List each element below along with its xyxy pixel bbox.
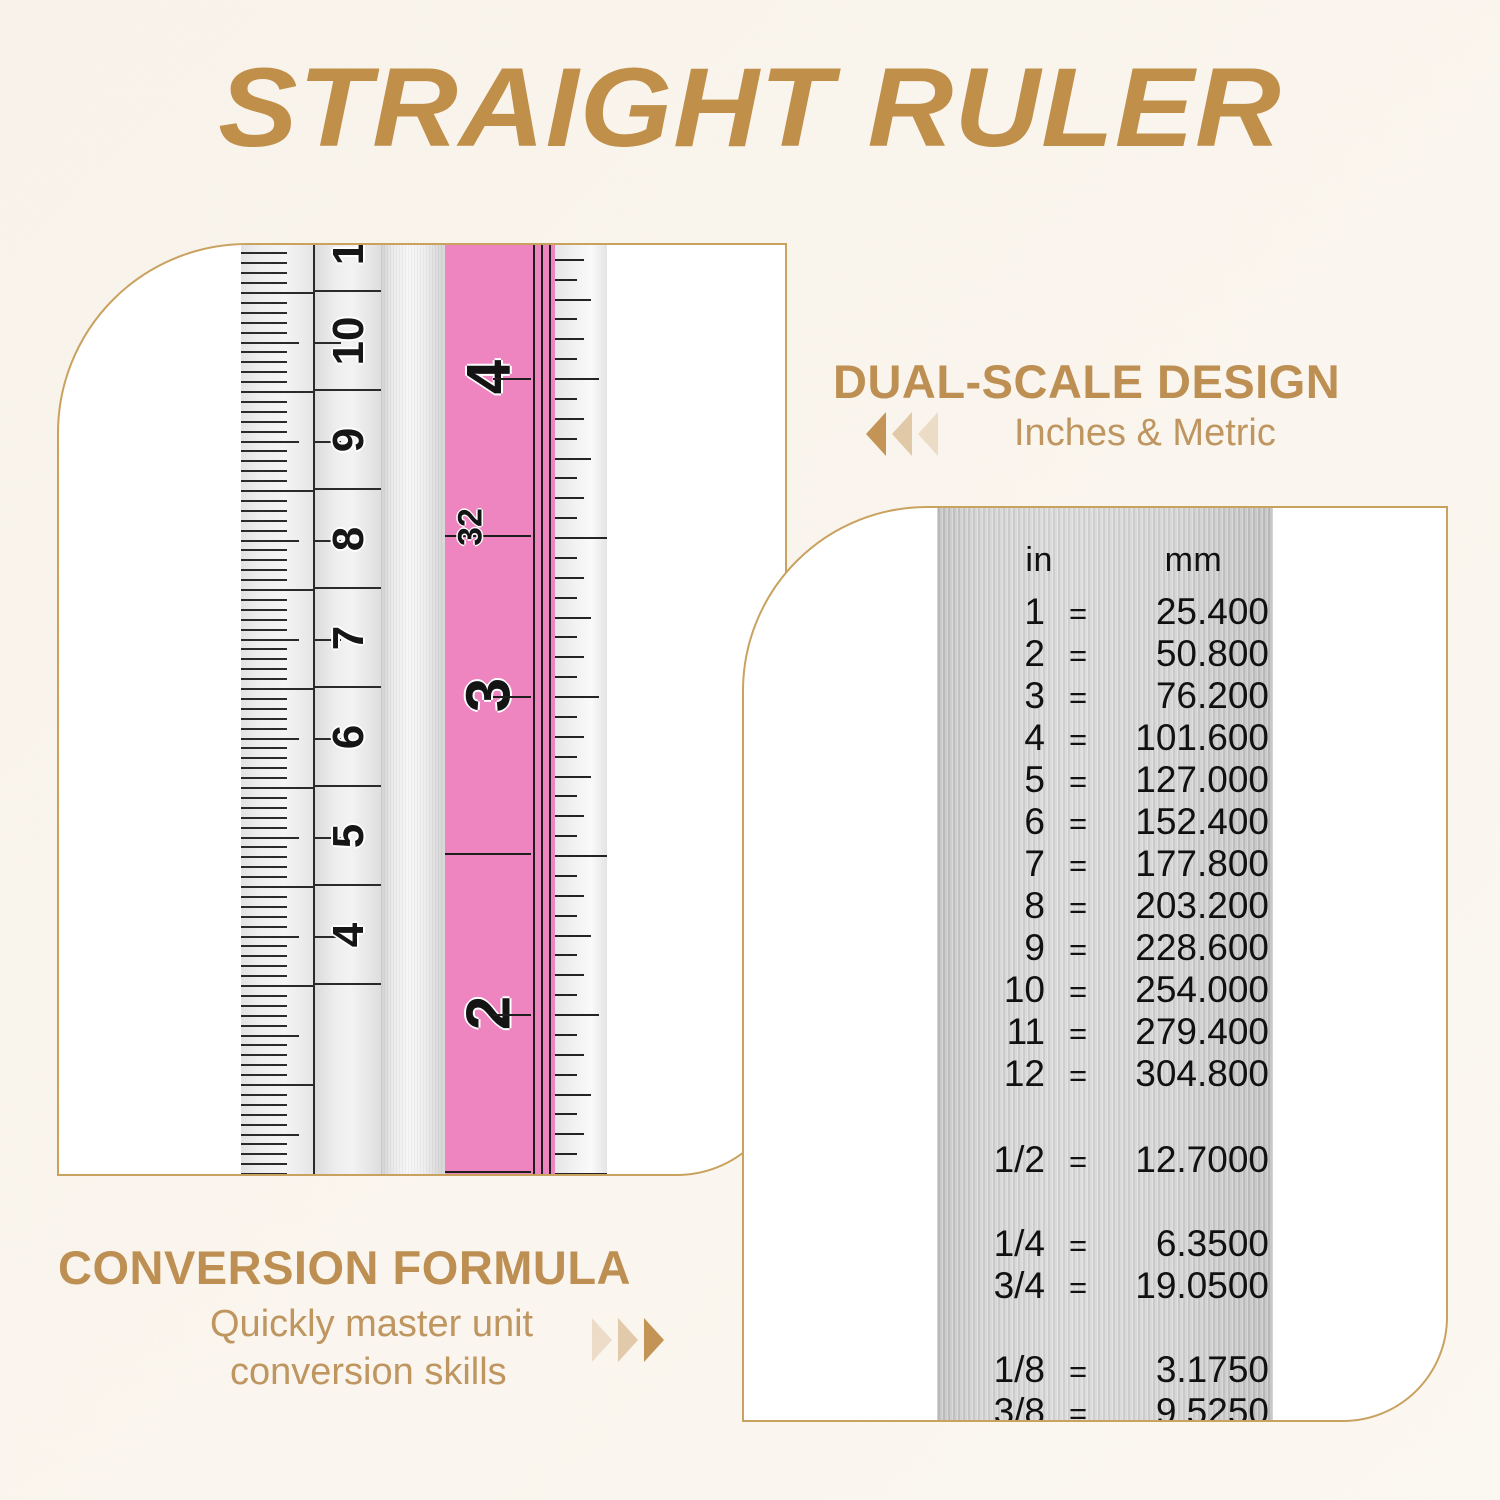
inch-tick	[555, 1133, 584, 1135]
conversion-mm-value: 3.1750	[1101, 1350, 1273, 1389]
conversion-inch-value: 1/2	[937, 1140, 1055, 1179]
equals-sign: =	[1055, 640, 1101, 673]
conversion-row: 4=101.600	[937, 718, 1273, 760]
conversion-mm-value: 50.800	[1101, 634, 1273, 673]
rail-line	[533, 245, 535, 1176]
metric-tick	[241, 827, 287, 829]
conversion-mm-value: 19.0500	[1101, 1266, 1273, 1305]
metric-tick	[241, 639, 299, 641]
conversion-inch-value: 12	[937, 1054, 1055, 1093]
inch-tick	[555, 915, 577, 917]
metric-tick	[241, 243, 299, 245]
chevron-left-icon	[892, 412, 912, 456]
metric-tick	[241, 1094, 287, 1096]
equals-sign: =	[1055, 934, 1101, 967]
inch-tick	[555, 497, 584, 499]
inch-tick	[555, 795, 577, 797]
metric-tick	[241, 262, 287, 264]
metric-tick	[241, 1173, 287, 1175]
inch-tick	[555, 696, 599, 698]
conversion-mm-value: 279.400	[1101, 1012, 1273, 1051]
metric-tick	[241, 777, 287, 779]
rail-line	[541, 245, 543, 1176]
metric-tick	[241, 470, 287, 472]
conversion-row: 1=25.400	[937, 592, 1273, 634]
equals-sign: =	[1055, 1398, 1101, 1422]
metric-tick	[241, 1054, 287, 1056]
chevron-left-icon	[918, 412, 938, 456]
metric-cell: 8	[315, 490, 383, 589]
metric-fine-ticks	[241, 245, 313, 1176]
metric-scale-label: 9	[324, 427, 374, 451]
inch-tick	[555, 477, 577, 479]
conversion-row: 10=254.000	[937, 970, 1273, 1012]
metric-tick	[241, 1153, 287, 1155]
conversion-formula-subtitle-line-2: conversion skills	[230, 1351, 507, 1394]
metric-tick	[241, 926, 287, 928]
conversion-row: 2=50.800	[937, 634, 1273, 676]
metric-tick	[241, 688, 313, 690]
conversion-inch-value: 3	[937, 676, 1055, 715]
inch-tick	[555, 438, 577, 440]
inch-tick	[555, 1074, 577, 1076]
metric-tick	[241, 431, 287, 433]
equals-sign: =	[1055, 850, 1101, 883]
metric-tick	[241, 728, 287, 730]
inch-scale-label: 4	[454, 360, 525, 394]
inch-tick	[555, 537, 607, 539]
inch-tick	[555, 676, 577, 678]
metric-cell: 6	[315, 688, 383, 787]
dual-scale-heading: DUAL-SCALE DESIGN	[833, 354, 1340, 409]
metric-tick	[241, 846, 287, 848]
metric-tick	[241, 332, 287, 334]
inch-tick	[555, 338, 584, 340]
equals-sign: =	[1055, 1146, 1101, 1179]
chevron-right-icon	[644, 1318, 664, 1362]
conversion-inch-value: 8	[937, 886, 1055, 925]
conversion-row: 1/8=3.1750	[937, 1350, 1273, 1392]
conversion-mm-value: 228.600	[1101, 928, 1273, 967]
equals-sign: =	[1055, 598, 1101, 631]
metric-tick	[241, 272, 287, 274]
conversion-mm-value: 254.000	[1101, 970, 1273, 1009]
conversion-row: 1/4=6.3500	[937, 1224, 1273, 1266]
conversion-mm-value: 12.7000	[1101, 1140, 1273, 1179]
equals-sign: =	[1055, 892, 1101, 925]
eighth-inch-rows: 1/8=3.17503/8=9.52505/8=15.8750	[937, 1350, 1273, 1422]
metric-cell: 7	[315, 589, 383, 688]
inch-tick	[555, 736, 584, 738]
metric-tick	[241, 797, 287, 799]
metric-tick	[241, 1134, 299, 1136]
conversion-mm-value: 25.400	[1101, 592, 1273, 631]
metric-tick	[241, 629, 287, 631]
inch-tick	[555, 835, 577, 837]
inch-rail-lines	[531, 245, 555, 1176]
metric-tick	[241, 965, 287, 967]
inch-tick	[555, 815, 584, 817]
inch-cell: 2	[445, 855, 533, 1173]
inch-tick	[555, 1153, 577, 1155]
conversion-inch-value: 1	[937, 592, 1055, 631]
metric-tick	[241, 1025, 287, 1027]
metric-tick	[241, 559, 287, 561]
conversion-mm-value: 101.600	[1101, 718, 1273, 757]
conversion-row: 5=127.000	[937, 760, 1273, 802]
inch-tick	[555, 1054, 584, 1056]
metric-tick	[241, 490, 313, 492]
metric-tick	[241, 747, 287, 749]
metric-tick	[241, 1114, 287, 1116]
inch-tick	[555, 994, 577, 996]
conversion-inch-value: 1/8	[937, 1350, 1055, 1389]
metric-scale-label: 4	[324, 922, 374, 946]
chevron-right-icon	[618, 1318, 638, 1362]
conversion-mm-value: 6.3500	[1101, 1224, 1273, 1263]
chevron-left-group	[866, 412, 938, 456]
metric-tick	[241, 599, 287, 601]
conversion-table: in mm 1=25.4002=50.8003=76.2004=101.6005…	[937, 542, 1273, 1422]
metric-tick	[241, 817, 287, 819]
metric-tick	[241, 757, 287, 759]
inch-half-mark	[493, 1014, 533, 1016]
chevron-left-icon	[866, 412, 886, 456]
chevron-right-icon	[592, 1318, 612, 1362]
metric-tick	[241, 1015, 287, 1017]
conversion-row: 11=279.400	[937, 1012, 1273, 1054]
metric-tick	[241, 391, 313, 393]
metric-tick	[241, 837, 299, 839]
metric-cell: 11	[315, 243, 383, 292]
column-header-mm: mm	[1114, 542, 1273, 578]
metric-tick	[241, 906, 287, 908]
conversion-inch-value: 9	[937, 928, 1055, 967]
metric-tick	[241, 460, 287, 462]
conversion-mm-value: 127.000	[1101, 760, 1273, 799]
metric-tick	[241, 648, 287, 650]
metric-cell: 5	[315, 787, 383, 886]
metric-tick	[241, 876, 287, 878]
metric-tick	[241, 361, 287, 363]
metric-tick	[241, 569, 287, 571]
metric-tick	[241, 540, 299, 542]
conversion-mm-value: 76.200	[1101, 676, 1273, 715]
metric-cell: 4	[315, 886, 383, 985]
metric-tick	[241, 787, 313, 789]
inch-tick	[555, 458, 591, 460]
inch-tick	[555, 398, 577, 400]
inch-tick	[555, 1014, 599, 1016]
conversion-mm-value: 304.800	[1101, 1054, 1273, 1093]
equals-sign: =	[1055, 724, 1101, 757]
conversion-inch-value: 5	[937, 760, 1055, 799]
metric-tick	[241, 322, 287, 324]
inch-tick	[555, 318, 577, 320]
metric-cell: 9	[315, 391, 383, 490]
conversion-chart-panel: in mm 1=25.4002=50.8003=76.2004=101.6005…	[742, 506, 1448, 1422]
conversion-mm-value: 177.800	[1101, 844, 1273, 883]
metric-tick	[241, 936, 299, 938]
inch-tick	[555, 935, 591, 937]
metric-tick	[241, 530, 287, 532]
inch-tick	[555, 418, 584, 420]
equals-sign: =	[1055, 1230, 1101, 1263]
inch-tick	[555, 954, 577, 956]
inch-cell: 4	[445, 243, 533, 537]
table-header-row: in mm	[937, 542, 1273, 578]
inch-tick	[555, 1034, 577, 1036]
metric-scale-label: 8	[324, 526, 374, 550]
conversion-row: 6=152.400	[937, 802, 1273, 844]
metric-tick	[241, 411, 287, 413]
inch-tick	[555, 716, 577, 718]
metric-tick	[241, 1143, 287, 1145]
metric-tick	[241, 579, 287, 581]
metric-tick	[241, 1104, 287, 1106]
conversion-row: 9=228.600	[937, 928, 1273, 970]
metric-tick	[241, 678, 287, 680]
metric-scale-label: 7	[324, 625, 374, 649]
inch-half-mark	[493, 696, 533, 698]
conversion-row: 3/8=9.5250	[937, 1392, 1273, 1422]
metric-tick	[241, 480, 287, 482]
row-group-spacer	[937, 1182, 1273, 1224]
metric-tick	[241, 856, 287, 858]
metric-tick	[241, 609, 287, 611]
metric-tick	[241, 1005, 287, 1007]
conversion-mm-value: 9.5250	[1101, 1392, 1273, 1422]
inch-tick	[555, 895, 584, 897]
row-group-spacer	[937, 1308, 1273, 1350]
metric-tick	[241, 658, 287, 660]
metric-tick	[241, 1084, 313, 1086]
metric-tick	[241, 1044, 287, 1046]
inch-tick	[555, 855, 607, 857]
metric-tick	[241, 916, 287, 918]
equals-sign: =	[1055, 1272, 1101, 1305]
equals-sign: =	[1055, 682, 1101, 715]
metric-tick	[241, 421, 287, 423]
conversion-formula-heading: CONVERSION FORMULA	[58, 1240, 631, 1295]
conversion-inch-value: 3/8	[937, 1392, 1055, 1422]
inch-tick	[555, 577, 584, 579]
conversion-inch-value: 3/4	[937, 1266, 1055, 1305]
metric-tick	[241, 401, 287, 403]
inch-fine-ticks	[555, 245, 607, 1176]
row-group-spacer	[937, 1096, 1273, 1140]
page-title: STRAIGHT RULER	[0, 52, 1500, 164]
conversion-row: 3/4=19.0500	[937, 1266, 1273, 1308]
metric-tick	[241, 500, 287, 502]
metric-tick	[241, 302, 287, 304]
metric-tick	[241, 520, 287, 522]
conversion-formula-subtitle-line-1: Quickly master unit	[210, 1303, 533, 1346]
metric-tick	[241, 1124, 287, 1126]
metric-tick	[241, 351, 287, 353]
metric-tick	[241, 510, 287, 512]
inch-tick	[555, 378, 599, 380]
conversion-mm-value: 152.400	[1101, 802, 1273, 841]
equals-sign: =	[1055, 1060, 1101, 1093]
inch-half-mark	[493, 378, 533, 380]
metric-tick	[241, 807, 287, 809]
chevron-right-group	[592, 1318, 664, 1362]
equals-sign: =	[1055, 766, 1101, 799]
column-header-spacer	[1059, 542, 1114, 578]
metric-tick	[241, 975, 287, 977]
conversion-inch-value: 1/4	[937, 1224, 1055, 1263]
ruler-product-photo: 1110987654 43232	[241, 245, 607, 1176]
metric-scale-label: 6	[324, 724, 374, 748]
metric-tick	[241, 718, 287, 720]
metric-tick	[241, 896, 287, 898]
inch-tick	[555, 1113, 577, 1115]
inch-tick	[555, 974, 584, 976]
inch-tick	[555, 875, 577, 877]
whole-inch-rows: 1=25.4002=50.8003=76.2004=101.6005=127.0…	[937, 592, 1273, 1096]
conversion-inch-value: 6	[937, 802, 1055, 841]
metric-tick	[241, 441, 299, 443]
conversion-row: 1/2=12.7000	[937, 1140, 1273, 1182]
metric-tick	[241, 767, 287, 769]
metric-tick	[241, 342, 299, 344]
rail-line	[549, 245, 551, 1176]
inch-tick	[555, 636, 577, 638]
conversion-inch-value: 11	[937, 1012, 1055, 1051]
conversion-inch-value: 2	[937, 634, 1055, 673]
conversion-mm-value: 203.200	[1101, 886, 1273, 925]
inch-pink-band: 43232	[443, 245, 531, 1176]
column-header-in: in	[937, 542, 1059, 578]
inch-tick	[555, 299, 591, 301]
metric-tick	[241, 738, 299, 740]
metric-tick	[241, 1035, 299, 1037]
inch-tick	[555, 279, 577, 281]
conversion-inch-value: 10	[937, 970, 1055, 1009]
metric-tick	[241, 955, 287, 957]
metric-tick	[241, 549, 287, 551]
metric-tick	[241, 708, 287, 710]
inch-tick	[555, 776, 591, 778]
inch-scale-label: 3	[454, 678, 525, 712]
equals-sign: =	[1055, 1018, 1101, 1051]
inch-tick	[555, 517, 577, 519]
inch-cell: 3	[445, 537, 533, 855]
inch-scale-label: 2	[454, 996, 525, 1030]
ruler-photo-panel: 1110987654 43232	[57, 243, 787, 1176]
metric-tick	[241, 450, 287, 452]
metric-tick	[241, 668, 287, 670]
metric-tick	[241, 381, 287, 383]
conversion-row: 8=203.200	[937, 886, 1273, 928]
metric-tick	[241, 866, 287, 868]
half-inch-rows: 1/2=12.7000	[937, 1140, 1273, 1182]
metric-tick	[241, 1074, 287, 1076]
inch-tick	[555, 756, 577, 758]
quarter-inch-rows: 1/4=6.35003/4=19.0500	[937, 1224, 1273, 1308]
inch-tick	[555, 358, 577, 360]
metric-scale-label: 11	[324, 243, 374, 265]
metric-tick	[241, 1064, 287, 1066]
metric-tick	[241, 886, 313, 888]
conversion-row: 7=177.800	[937, 844, 1273, 886]
inch-denominator-label: 32	[451, 508, 490, 546]
inch-tick	[555, 656, 584, 658]
metric-tick	[241, 292, 313, 294]
metric-cell: 10	[315, 292, 383, 391]
equals-sign: =	[1055, 808, 1101, 841]
metric-scale-label: 5	[324, 823, 374, 847]
equals-sign: =	[1055, 976, 1101, 1009]
metric-tick	[241, 995, 287, 997]
metric-number-column: 1110987654	[313, 245, 381, 1176]
metric-tick	[241, 698, 287, 700]
metric-tick	[241, 945, 287, 947]
metric-tick	[241, 619, 287, 621]
inch-tick	[555, 259, 584, 261]
conversion-row: 3=76.200	[937, 676, 1273, 718]
metric-scale-label: 10	[324, 316, 374, 365]
metric-tick	[241, 985, 313, 987]
inch-tick	[555, 597, 577, 599]
inch-tick	[555, 1173, 607, 1175]
conversion-row: 12=304.800	[937, 1054, 1273, 1096]
conversion-inch-value: 4	[937, 718, 1055, 757]
metric-tick	[241, 312, 287, 314]
metric-tick	[241, 589, 313, 591]
conversion-inch-value: 7	[937, 844, 1055, 883]
ruler-blank-band	[381, 245, 443, 1176]
metric-tick	[241, 282, 287, 284]
metric-tick	[241, 1163, 287, 1165]
dual-scale-subtitle: Inches & Metric	[1014, 412, 1276, 455]
inch-tick	[555, 557, 577, 559]
equals-sign: =	[1055, 1356, 1101, 1389]
inch-tick	[555, 1094, 591, 1096]
conversion-chart-plate: in mm 1=25.4002=50.8003=76.2004=101.6005…	[937, 508, 1273, 1422]
metric-tick	[241, 371, 287, 373]
metric-tick	[241, 252, 287, 254]
inch-tick	[555, 617, 591, 619]
